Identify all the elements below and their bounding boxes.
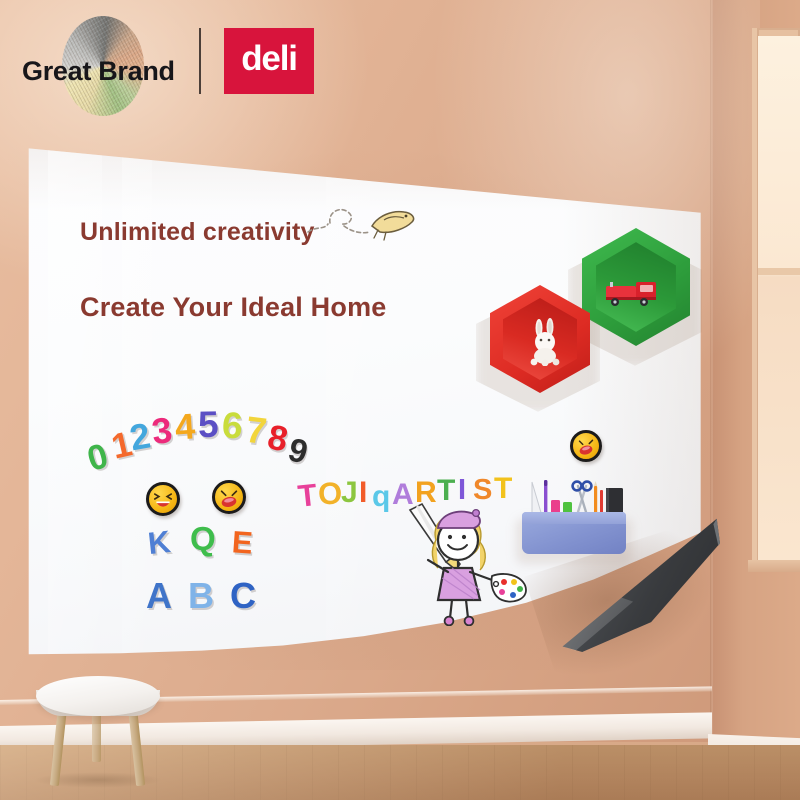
letter-magnet-K[interactable]: K xyxy=(146,526,172,559)
bunny-figurine xyxy=(526,318,566,366)
letter-magnet-Q[interactable]: Q xyxy=(190,522,216,555)
number-magnet-3[interactable]: 3 xyxy=(150,412,174,450)
palette-drawing xyxy=(491,574,526,602)
window-mullion xyxy=(758,268,800,275)
letter-magnet-C[interactable]: C xyxy=(230,578,256,614)
girl-artist-drawing xyxy=(408,498,530,626)
artist-letter-1: T xyxy=(296,479,318,512)
artist-letter-5: q xyxy=(372,482,390,512)
rofl-face xyxy=(215,483,243,511)
rolling-laugh-emoji-magnet[interactable] xyxy=(212,480,246,514)
brand-name: Great Brand xyxy=(22,56,175,87)
fire-truck-toy xyxy=(604,276,660,308)
laughing-emoji-magnet[interactable] xyxy=(146,482,180,516)
window-pane xyxy=(758,36,800,560)
holder-lip xyxy=(522,512,626,524)
brand-logo-bar: Great Brand deli xyxy=(0,0,340,120)
deli-logo: deli xyxy=(224,28,314,94)
deli-logo-text: deli xyxy=(224,28,314,94)
headline-line-2: Create Your Ideal Home xyxy=(80,292,387,323)
artist-letter-2: O xyxy=(317,477,343,509)
number-magnet-4[interactable]: 4 xyxy=(174,408,196,445)
letter-magnet-E[interactable]: E xyxy=(231,526,254,558)
letter-magnet-B[interactable]: B xyxy=(188,578,214,614)
rofl-emoji-magnet-small[interactable] xyxy=(570,430,602,462)
vertical-divider-icon xyxy=(199,28,201,94)
headline-line-1: Unlimited creativity xyxy=(80,218,315,247)
artist-letter-3: J xyxy=(341,478,358,508)
rofl-face-small xyxy=(573,433,599,459)
number-magnet-6[interactable]: 6 xyxy=(221,406,243,444)
squint-laugh-face xyxy=(149,485,177,513)
pen-holder[interactable] xyxy=(522,472,626,554)
window-sill xyxy=(748,560,800,572)
stool-seat xyxy=(36,676,160,716)
artist-letter-4: I xyxy=(359,478,367,508)
number-magnet-5[interactable]: 5 xyxy=(198,406,219,443)
letter-magnet-A[interactable]: A xyxy=(146,578,172,614)
flying-bird-doodle xyxy=(306,192,418,252)
round-stool xyxy=(28,676,168,786)
room-scene: Unlimited creativity Create Your Ideal H… xyxy=(0,0,800,800)
